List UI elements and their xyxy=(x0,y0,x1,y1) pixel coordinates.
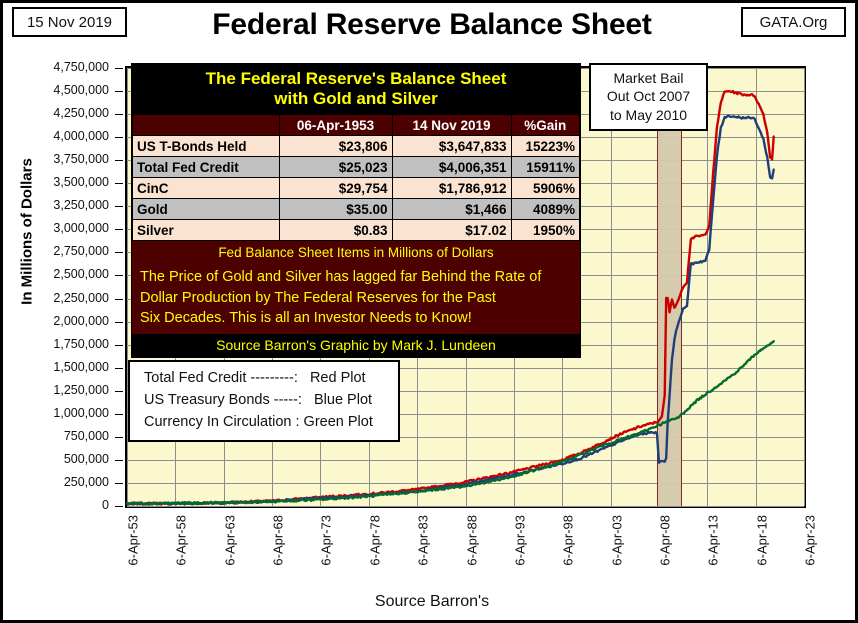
x-tick-label: 6-Apr-18 xyxy=(754,515,769,566)
source-badge: GATA.Org xyxy=(741,7,846,37)
table-row: US T-Bonds Held$23,806$3,647,83315223% xyxy=(133,136,580,157)
x-tick-label: 6-Apr-98 xyxy=(561,515,576,566)
page-title: Federal Reserve Balance Sheet xyxy=(3,8,858,42)
y-tick-label: 4,750,000 xyxy=(0,60,109,74)
x-tick-label: 6-Apr-23 xyxy=(803,515,818,566)
y-tick-label: 4,250,000 xyxy=(0,106,109,120)
row-value-1953: $23,806 xyxy=(279,136,392,157)
y-tick-mark xyxy=(115,414,123,415)
y-tick-mark xyxy=(115,483,123,484)
panel-credit: Source Barron's Graphic by Mark J. Lunde… xyxy=(132,334,580,357)
row-value-1953: $29,754 xyxy=(279,178,392,199)
y-tick-mark xyxy=(115,368,123,369)
y-tick-mark xyxy=(115,68,123,69)
row-value-1953: $35.00 xyxy=(279,199,392,220)
row-value-gain: 15911% xyxy=(511,157,580,178)
row-value-1953: $25,023 xyxy=(279,157,392,178)
table-header-row: 06-Apr-1953 14 Nov 2019 %Gain xyxy=(133,115,580,136)
x-tick-label: 6-Apr-78 xyxy=(367,515,382,566)
row-label: CinC xyxy=(133,178,280,199)
y-tick-label: 2,250,000 xyxy=(0,291,109,305)
row-label: Gold xyxy=(133,199,280,220)
y-tick-label: 4,500,000 xyxy=(0,83,109,97)
row-value-2019: $17.02 xyxy=(392,220,511,241)
row-label: US T-Bonds Held xyxy=(133,136,280,157)
y-tick-mark xyxy=(115,160,123,161)
table-row: Gold$35.00$1,4664089% xyxy=(133,199,580,220)
row-value-gain: 5906% xyxy=(511,178,580,199)
y-tick-mark xyxy=(115,183,123,184)
row-value-2019: $1,786,912 xyxy=(392,178,511,199)
table-row: CinC$29,754$1,786,9125906% xyxy=(133,178,580,199)
row-value-2019: $1,466 xyxy=(392,199,511,220)
y-tick-mark xyxy=(115,114,123,115)
x-tick-label: 6-Apr-58 xyxy=(174,515,189,566)
col-header-blank xyxy=(133,115,280,136)
y-tick-mark xyxy=(115,437,123,438)
y-tick-mark xyxy=(115,506,123,507)
legend-item-currency-in-circulation: Currency In Circulation : Green Plot xyxy=(144,412,398,434)
y-tick-label: 1,750,000 xyxy=(0,337,109,351)
source-tag-text: GATA.Org xyxy=(760,14,828,31)
y-tick-label: 3,750,000 xyxy=(0,152,109,166)
y-tick-label: 1,500,000 xyxy=(0,360,109,374)
market-bailout-annotation: Market Bail Out Oct 2007 to May 2010 xyxy=(589,63,708,131)
y-tick-label: 2,750,000 xyxy=(0,244,109,258)
chart-legend: Total Fed Credit ---------: Red Plot US … xyxy=(128,360,400,442)
y-tick-label: 250,000 xyxy=(0,475,109,489)
y-tick-mark xyxy=(115,391,123,392)
x-tick-label: 6-Apr-03 xyxy=(609,515,624,566)
gridline-vertical xyxy=(804,68,805,506)
balance-sheet-table: 06-Apr-1953 14 Nov 2019 %Gain US T-Bonds… xyxy=(132,114,580,241)
x-tick-label: 6-Apr-63 xyxy=(222,515,237,566)
table-row: Total Fed Credit$25,023$4,006,35115911% xyxy=(133,157,580,178)
chart-page: 15 Nov 2019 Federal Reserve Balance Shee… xyxy=(0,0,858,623)
y-tick-mark xyxy=(115,206,123,207)
balance-sheet-panel: The Federal Reserve's Balance Sheet with… xyxy=(131,63,581,358)
x-tick-label: 6-Apr-53 xyxy=(126,515,141,566)
annotation-line3: to May 2010 xyxy=(591,106,706,124)
commentary-line3: Six Decades. This is all an Investor Nee… xyxy=(140,308,574,329)
commentary-line2: Dollar Production by The Federal Reserve… xyxy=(140,288,574,309)
gridline-horizontal xyxy=(127,506,804,507)
y-tick-label: 3,000,000 xyxy=(0,221,109,235)
y-tick-label: 4,000,000 xyxy=(0,129,109,143)
y-tick-label: 750,000 xyxy=(0,429,109,443)
annotation-line1: Market Bail xyxy=(591,69,706,87)
row-value-gain: 15223% xyxy=(511,136,580,157)
row-value-1953: $0.83 xyxy=(279,220,392,241)
x-tick-label: 6-Apr-83 xyxy=(416,515,431,566)
y-tick-label: 1,250,000 xyxy=(0,383,109,397)
y-tick-mark xyxy=(115,252,123,253)
x-tick-label: 6-Apr-68 xyxy=(271,515,286,566)
legend-item-total-fed-credit: Total Fed Credit ---------: Red Plot xyxy=(144,368,398,390)
y-tick-label: 3,500,000 xyxy=(0,175,109,189)
col-header-gain: %Gain xyxy=(511,115,580,136)
y-tick-mark xyxy=(115,299,123,300)
panel-title-line2: with Gold and Silver xyxy=(132,89,580,109)
y-tick-mark xyxy=(115,275,123,276)
y-tick-label: 500,000 xyxy=(0,452,109,466)
y-tick-mark xyxy=(115,460,123,461)
x-tick-label: 6-Apr-08 xyxy=(657,515,672,566)
y-tick-label: 2,500,000 xyxy=(0,267,109,281)
y-tick-mark xyxy=(115,345,123,346)
row-value-2019: $3,647,833 xyxy=(392,136,511,157)
panel-title-line1: The Federal Reserve's Balance Sheet xyxy=(132,69,580,89)
x-tick-label: 6-Apr-93 xyxy=(512,515,527,566)
balance-sheet-table-body: US T-Bonds Held$23,806$3,647,83315223%To… xyxy=(133,136,580,241)
y-tick-label: 2,000,000 xyxy=(0,314,109,328)
y-tick-label: 1,000,000 xyxy=(0,406,109,420)
y-tick-mark xyxy=(115,91,123,92)
annotation-line2: Out Oct 2007 xyxy=(591,87,706,105)
table-row: Silver$0.83$17.021950% xyxy=(133,220,580,241)
row-label: Silver xyxy=(133,220,280,241)
y-tick-mark xyxy=(115,322,123,323)
x-tick-label: 6-Apr-13 xyxy=(706,515,721,566)
legend-item-us-treasury-bonds: US Treasury Bonds -----: Blue Plot xyxy=(144,390,398,412)
x-tick-label: 6-Apr-88 xyxy=(464,515,479,566)
x-axis-title: Source Barron's xyxy=(3,593,858,611)
col-header-1953: 06-Apr-1953 xyxy=(279,115,392,136)
y-tick-label: 0 xyxy=(0,498,109,512)
y-tick-label: 3,250,000 xyxy=(0,198,109,212)
panel-title: The Federal Reserve's Balance Sheet with… xyxy=(132,64,580,114)
y-tick-mark xyxy=(115,137,123,138)
commentary-line1: The Price of Gold and Silver has lagged … xyxy=(140,267,574,288)
col-header-2019: 14 Nov 2019 xyxy=(392,115,511,136)
panel-units-note: Fed Balance Sheet Items in Millions of D… xyxy=(132,241,580,263)
row-label: Total Fed Credit xyxy=(133,157,280,178)
row-value-2019: $4,006,351 xyxy=(392,157,511,178)
y-tick-mark xyxy=(115,229,123,230)
row-value-gain: 4089% xyxy=(511,199,580,220)
x-tick-label: 6-Apr-73 xyxy=(319,515,334,566)
row-value-gain: 1950% xyxy=(511,220,580,241)
panel-commentary: The Price of Gold and Silver has lagged … xyxy=(132,263,580,334)
